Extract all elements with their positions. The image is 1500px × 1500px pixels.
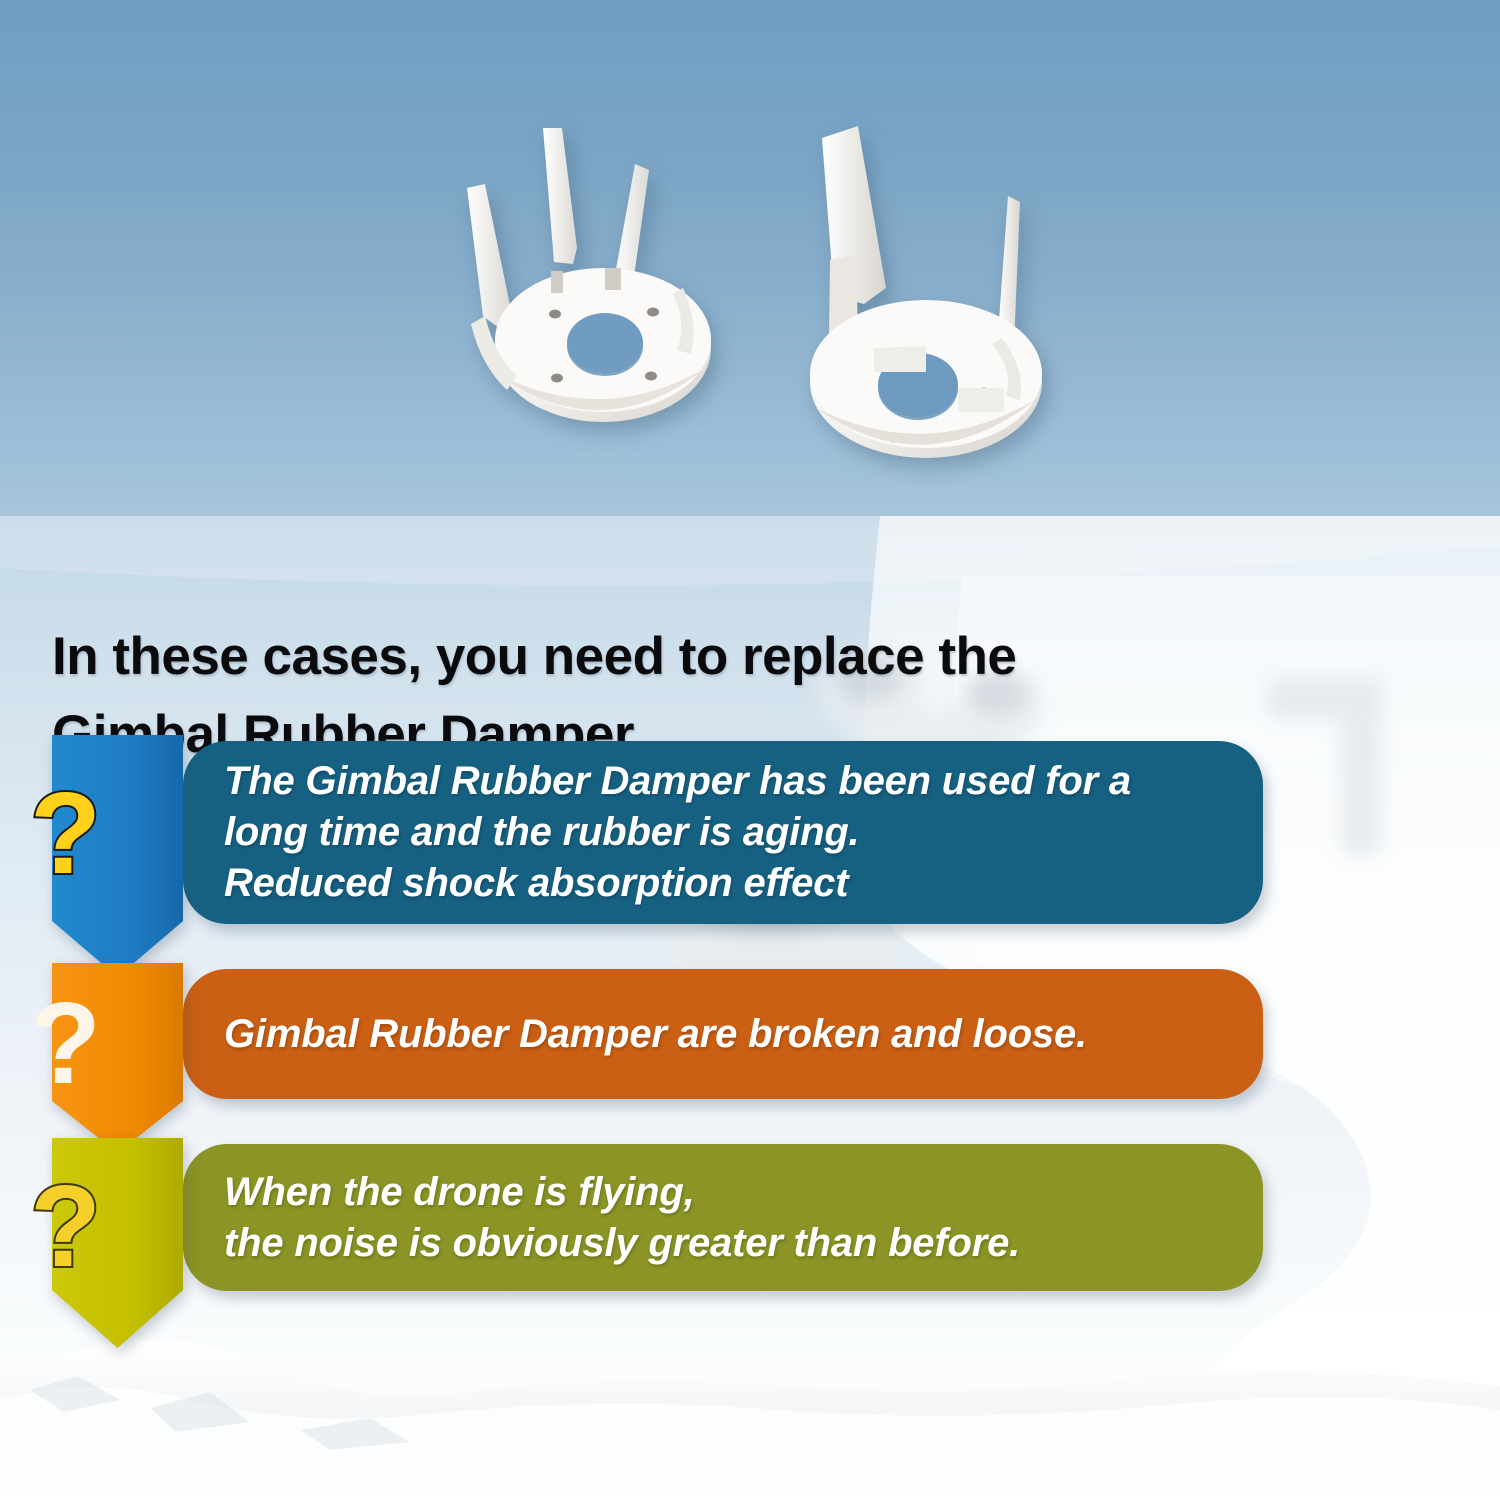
reason-row-aging: ? The Gimbal Rubber Damper has been used… xyxy=(0,735,1500,963)
promo-infographic: In these cases, you need to replace the … xyxy=(0,0,1500,1500)
reason-text-broken-loose: Gimbal Rubber Damper are broken and loos… xyxy=(183,1009,1123,1060)
reason-text-aging: The Gimbal Rubber Damper has been used f… xyxy=(183,756,1167,908)
reason-row-noise: ? When the drone is flying, the noise is… xyxy=(0,1138,1500,1323)
lower-content-section: In these cases, you need to replace the … xyxy=(0,516,1500,1500)
product-image-left xyxy=(455,128,745,458)
reason-tab-noise[interactable] xyxy=(52,1138,183,1348)
reason-banner-noise[interactable]: When the drone is flying, the noise is o… xyxy=(183,1144,1263,1291)
reason-banner-aging[interactable]: The Gimbal Rubber Damper has been used f… xyxy=(183,741,1263,924)
reason-row-broken-loose: ? Gimbal Rubber Damper are broken and lo… xyxy=(0,963,1500,1138)
reason-tab-aging[interactable] xyxy=(52,735,183,977)
reason-banner-broken-loose[interactable]: Gimbal Rubber Damper are broken and loos… xyxy=(183,969,1263,1099)
reason-text-noise: When the drone is flying, the noise is o… xyxy=(183,1167,1056,1269)
product-image-right xyxy=(786,120,1066,470)
reason-list: ? The Gimbal Rubber Damper has been used… xyxy=(0,735,1500,1323)
reason-tab-broken-loose[interactable] xyxy=(52,963,183,1153)
product-photo-band xyxy=(0,0,1500,516)
